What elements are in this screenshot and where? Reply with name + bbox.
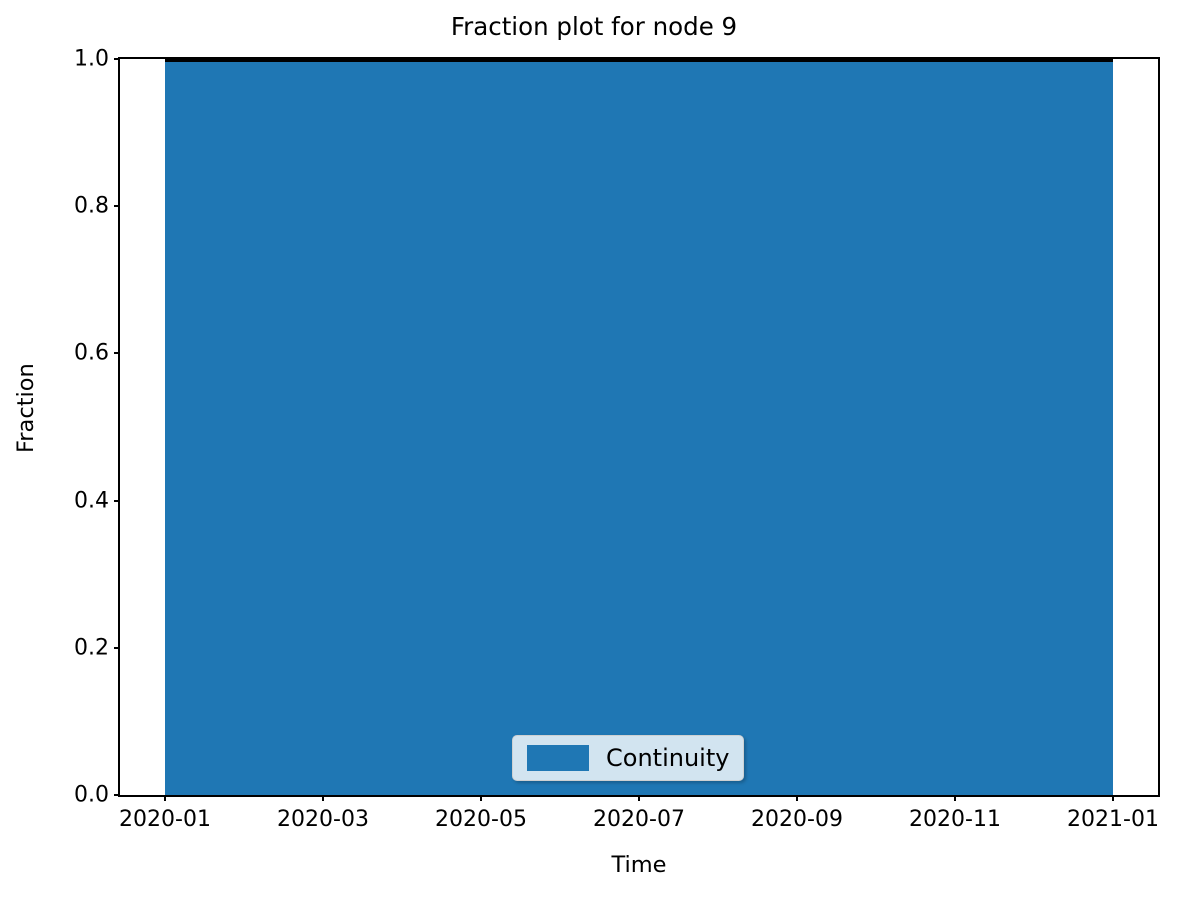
area-edge-line: [165, 59, 1113, 62]
x-tick-label-6: 2021-01: [1067, 807, 1159, 832]
x-tick-label-4: 2020-09: [751, 807, 843, 832]
plot-axes: 0.0 0.2 0.4 0.6 0.8 1.0 2020-01 2: [118, 57, 1160, 797]
y-tick-label-2: 0.4: [74, 488, 109, 513]
x-axis-label: Time: [118, 852, 1160, 878]
y-tick-label-0: 0.0: [74, 783, 109, 808]
y-tick-label-3: 0.6: [74, 341, 109, 366]
x-tick-label-3: 2020-07: [593, 807, 685, 832]
plot-area: [120, 59, 1158, 795]
x-tick-label-2: 2020-05: [435, 807, 527, 832]
y-axis-label: Fraction: [13, 373, 39, 453]
x-tick-label-5: 2020-11: [909, 807, 1001, 832]
y-tick-label-4: 0.8: [74, 194, 109, 219]
y-tick-label-1: 0.2: [74, 635, 109, 660]
y-tick-label-5: 1.0: [74, 47, 109, 72]
chart-legend[interactable]: Continuity: [512, 735, 744, 781]
legend-label-continuity: Continuity: [606, 745, 729, 771]
x-tick-label-0: 2020-01: [119, 807, 211, 832]
chart-title: Fraction plot for node 9: [0, 12, 1188, 42]
x-tick-label-1: 2020-03: [277, 807, 369, 832]
figure-canvas: Fraction plot for node 9 0.0 0.2 0.4 0.6: [0, 0, 1188, 898]
area-series-continuity: [165, 59, 1113, 795]
legend-swatch-continuity: [527, 745, 589, 771]
